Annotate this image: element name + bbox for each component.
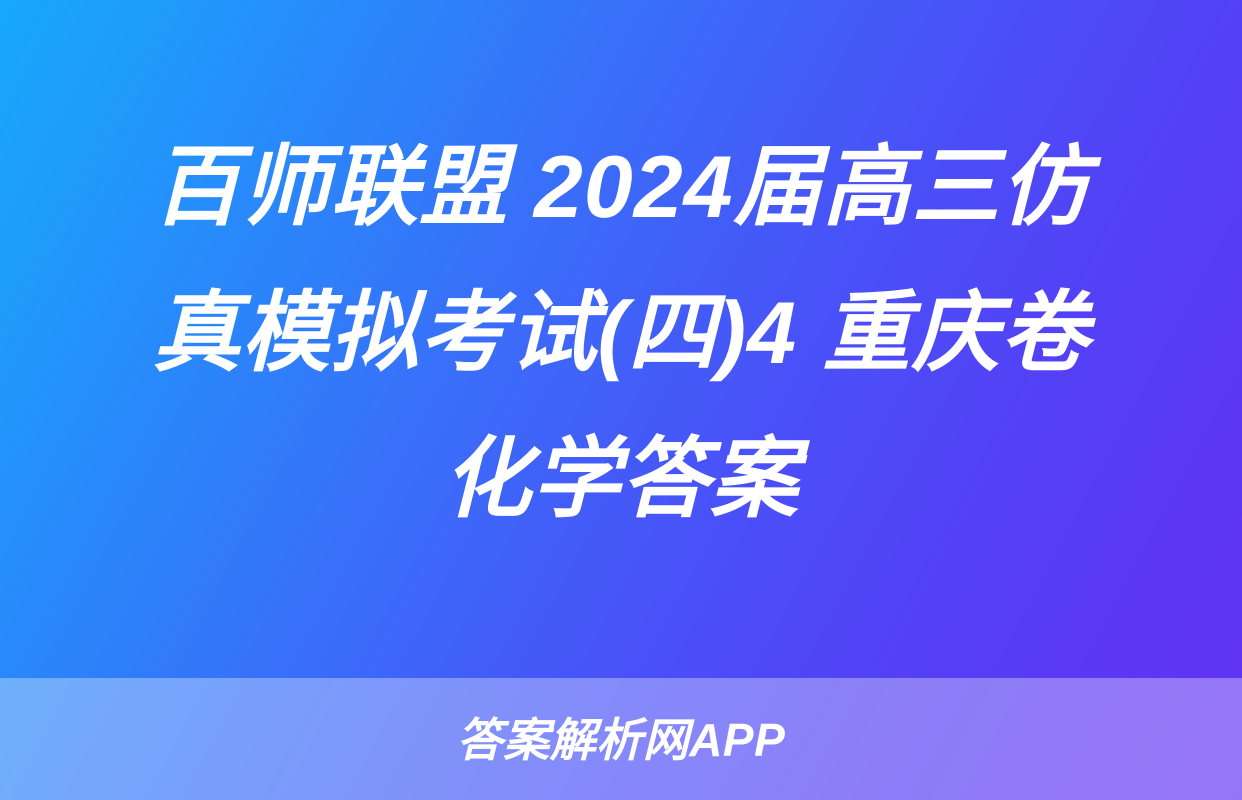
title-line-2: 真模拟考试(四)4 重庆卷 <box>60 260 1182 406</box>
footer-band: 答案解析网APP <box>0 678 1242 800</box>
app-watermark: 答案解析网APP <box>457 717 786 763</box>
title-block: 百师联盟 2024届高三仿 真模拟考试(四)4 重庆卷 化学答案 <box>0 0 1242 678</box>
title-line-1: 百师联盟 2024届高三仿 <box>60 114 1182 260</box>
title-line-3: 化学答案 <box>60 406 1182 552</box>
cover-card: 百师联盟 2024届高三仿 真模拟考试(四)4 重庆卷 化学答案 答案解析网AP… <box>0 0 1242 800</box>
